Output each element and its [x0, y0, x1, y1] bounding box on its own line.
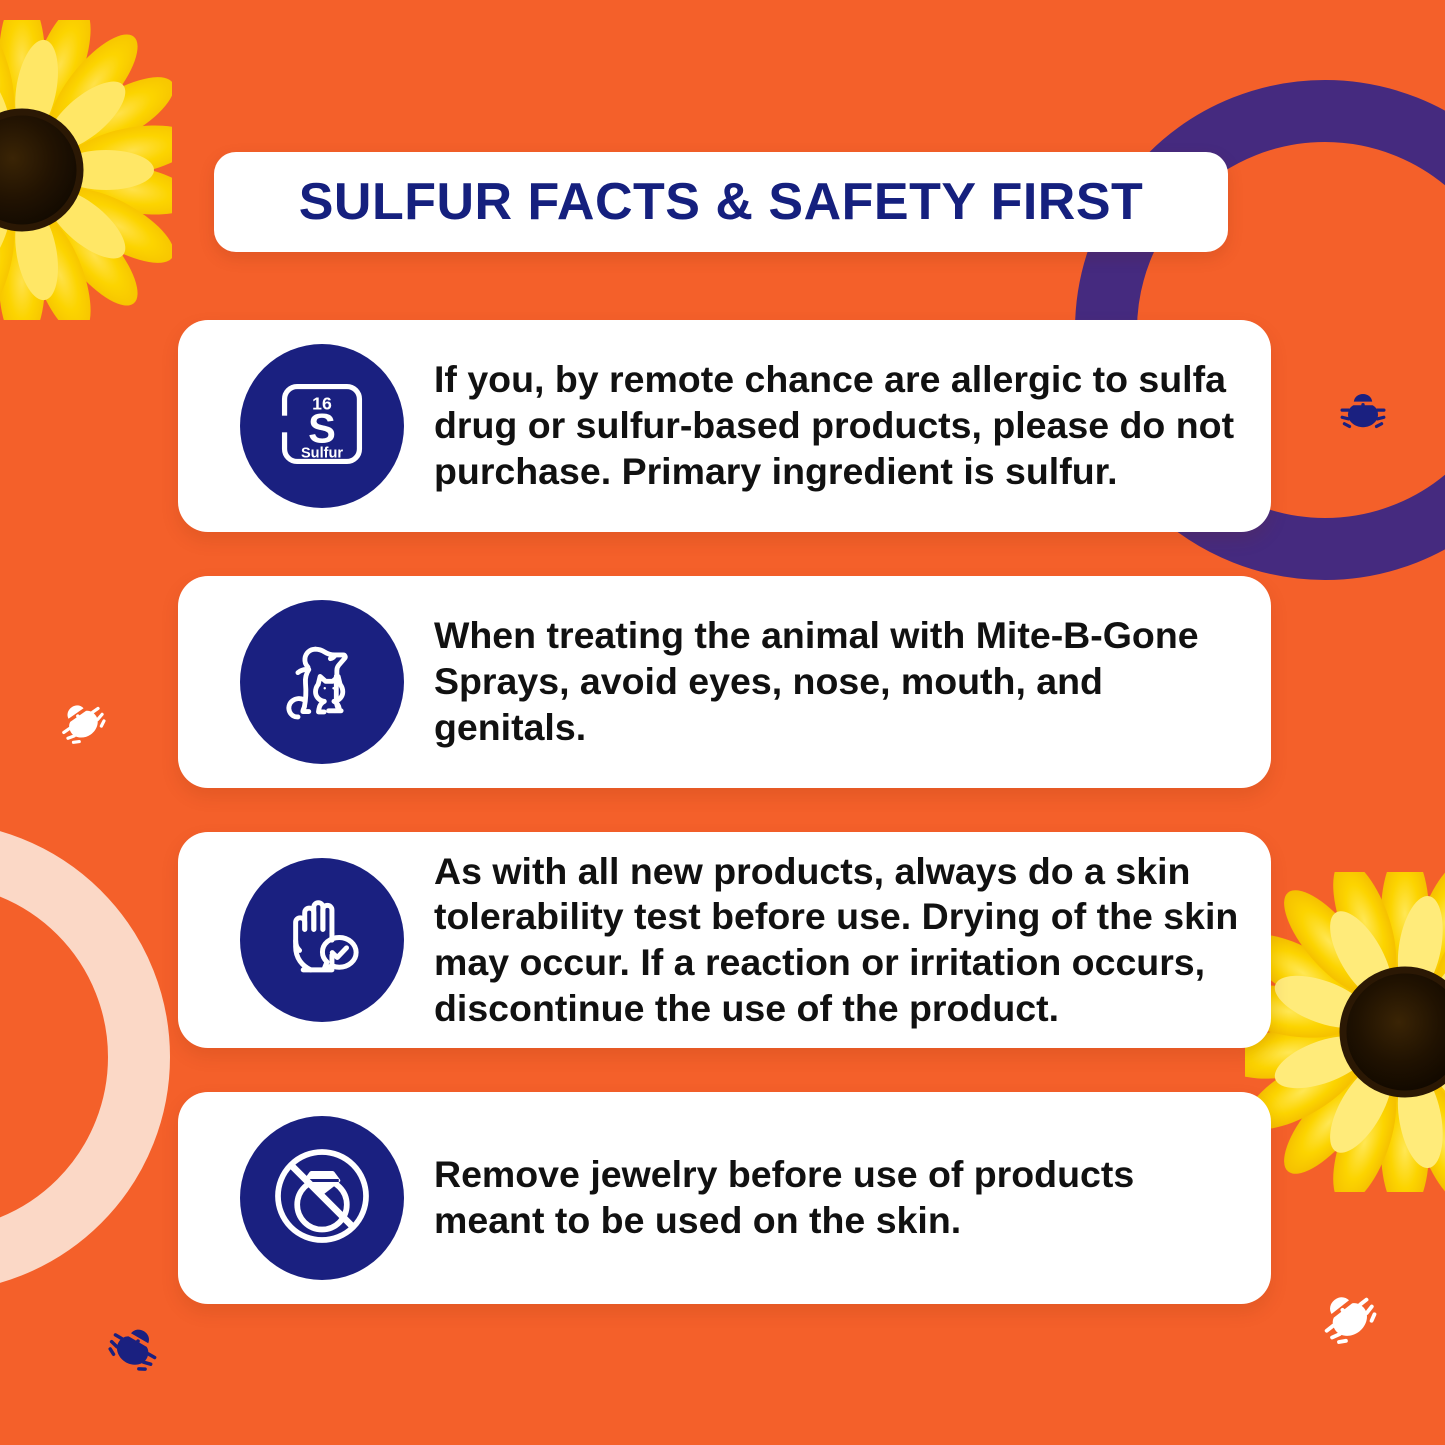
dog-and-cat-icon: [267, 625, 377, 740]
icon-badge: 16 S Sulfur: [240, 344, 404, 508]
fact-card-skin-test: As with all new products, always do a sk…: [178, 832, 1271, 1048]
fact-card-remove-jewelry: Remove jewelry before use of products me…: [178, 1092, 1271, 1304]
fact-card-sulfur-allergy: 16 S Sulfur If you, by remote chance are…: [178, 320, 1271, 532]
title-banner: SULFUR FACTS & SAFETY FIRST: [214, 152, 1228, 252]
sulfur-element-tile-icon: 16 S Sulfur: [270, 372, 374, 481]
fact-card-text: As with all new products, always do a sk…: [434, 849, 1271, 1032]
no-jewelry-ring-icon: [260, 1134, 384, 1263]
icon-badge: [240, 600, 404, 764]
infographic-canvas: SULFUR FACTS & SAFETY FIRST 16 S Sulfur …: [0, 0, 1445, 1445]
icon-badge: [240, 858, 404, 1022]
sulfur-element-name: Sulfur: [301, 445, 343, 461]
fact-card-animal-application: When treating the animal with Mite-B-Gon…: [178, 576, 1271, 788]
content-layer: SULFUR FACTS & SAFETY FIRST 16 S Sulfur …: [0, 0, 1445, 1445]
fact-card-text: If you, by remote chance are allergic to…: [434, 357, 1271, 494]
fact-card-text: When treating the animal with Mite-B-Gon…: [434, 613, 1271, 750]
page-title: SULFUR FACTS & SAFETY FIRST: [299, 172, 1144, 232]
fact-card-text: Remove jewelry before use of products me…: [434, 1152, 1271, 1244]
hand-with-check-bubble-icon: [268, 884, 376, 997]
icon-badge: [240, 1116, 404, 1280]
